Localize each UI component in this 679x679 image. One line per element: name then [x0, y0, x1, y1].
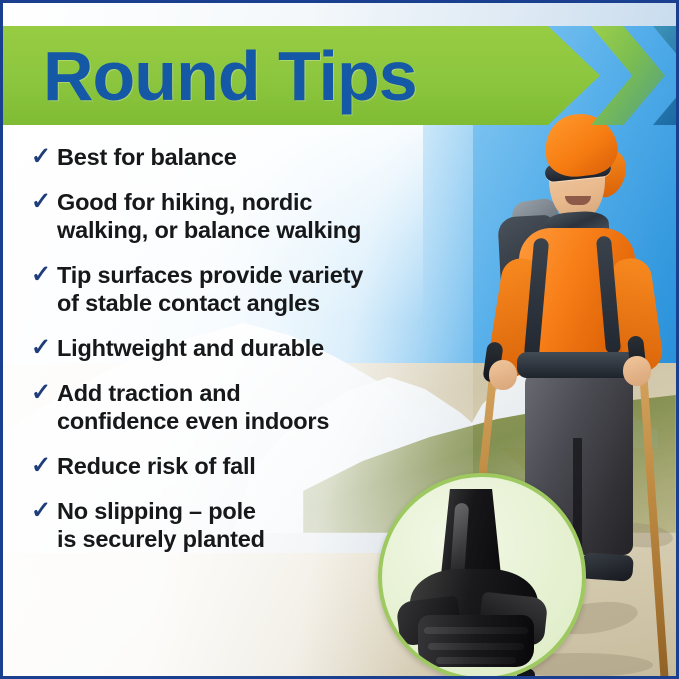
hiking-boot-right: [580, 552, 634, 582]
list-item-label: Reduce risk of fall: [57, 452, 256, 480]
list-item: ✓ Good for hiking, nordic walking, or ba…: [31, 188, 451, 244]
check-icon: ✓: [31, 452, 57, 480]
check-icon: ✓: [31, 143, 57, 171]
feature-list: ✓ Best for balance ✓ Good for hiking, no…: [31, 143, 451, 570]
list-item: ✓ Best for balance: [31, 143, 451, 171]
list-item-label: Lightweight and durable: [57, 334, 324, 362]
list-item: ✓ Reduce risk of fall: [31, 452, 451, 480]
list-item-label: Best for balance: [57, 143, 237, 171]
list-item-label: No slipping – pole is securely planted: [57, 497, 265, 553]
trekking-pole-right: [639, 370, 669, 676]
product-inset-circle: [378, 473, 586, 679]
pole-tip-tread: [428, 643, 524, 650]
check-icon: ✓: [31, 188, 57, 216]
check-icon: ✓: [31, 334, 57, 362]
check-icon: ✓: [31, 497, 57, 525]
hiker-hand-left: [489, 360, 517, 390]
page-title: Round Tips: [43, 26, 417, 125]
product-infographic: Round Tips ✓ Best for balance ✓ Good for…: [0, 0, 679, 679]
pole-tip-tread: [436, 657, 516, 664]
hiker-hand-right: [623, 356, 651, 386]
pole-tip-tread: [424, 627, 528, 634]
list-item: ✓ Add traction and confidence even indoo…: [31, 379, 451, 435]
list-item: ✓ Tip surfaces provide variety of stable…: [31, 261, 451, 317]
list-item-label: Add traction and confidence even indoors: [57, 379, 329, 435]
check-icon: ✓: [31, 261, 57, 289]
list-item: ✓ Lightweight and durable: [31, 334, 451, 362]
list-item-label: Good for hiking, nordic walking, or bala…: [57, 188, 361, 244]
top-strip: [3, 3, 676, 26]
list-item-label: Tip surfaces provide variety of stable c…: [57, 261, 363, 317]
pack-hipbelt: [517, 352, 639, 378]
check-icon: ✓: [31, 379, 57, 407]
